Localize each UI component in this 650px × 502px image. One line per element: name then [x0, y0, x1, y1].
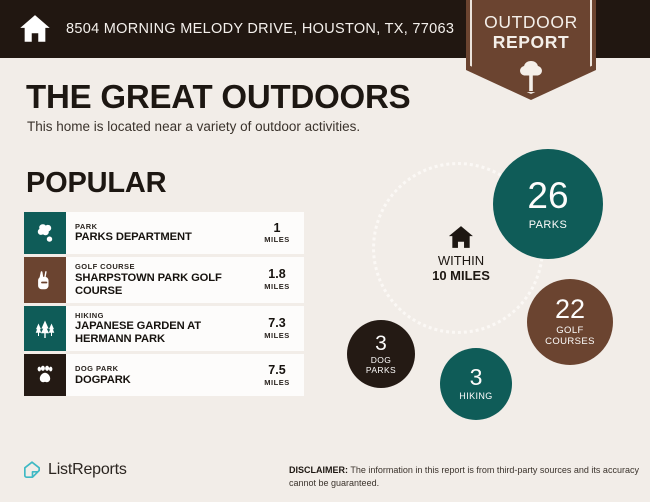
stat-circle-dog-parks[interactable]: 3 DOG PARKS	[347, 320, 415, 388]
list-item-distance: 1 MILES	[258, 212, 304, 254]
dog-label-line-2: PARKS	[366, 365, 396, 375]
tree-icon	[513, 58, 549, 94]
distance-unit: MILES	[264, 378, 289, 387]
parks-label: PARKS	[529, 219, 567, 231]
popular-list: PARK PARKS DEPARTMENT 1 MILES GOLF COURS…	[24, 212, 304, 399]
list-item-name: PARKS DEPARTMENT	[75, 231, 254, 244]
list-item-name: SHARPSTOWN PARK GOLF COURSE	[75, 272, 254, 298]
golf-bag-icon	[24, 257, 66, 303]
pine-trees-icon	[24, 306, 66, 352]
list-item[interactable]: DOG PARK DOGPARK 7.5 MILES	[24, 354, 304, 396]
park-trees-icon	[24, 212, 66, 254]
list-item-distance: 7.3 MILES	[258, 306, 304, 352]
house-icon	[18, 12, 52, 46]
golf-label-line-1: GOLF	[556, 325, 583, 336]
listreports-logo-text: ListReports	[48, 461, 127, 479]
list-item-category: HIKING	[75, 311, 254, 321]
listreports-logo[interactable]: ListReports	[22, 460, 127, 480]
popular-heading: POPULAR	[26, 167, 166, 200]
stat-circle-golf-courses[interactable]: 22 GOLF COURSES	[527, 279, 613, 365]
within-10-miles-diagram: 26 PARKS 22 GOLF COURSES 3 DOG PARKS 3 H…	[330, 140, 650, 430]
distance-unit: MILES	[264, 331, 289, 340]
list-item[interactable]: HIKING JAPANESE GARDEN AT HERMANN PARK 7…	[24, 306, 304, 352]
golf-courses-label: GOLF COURSES	[545, 326, 595, 347]
property-address: 8504 MORNING MELODY DRIVE, HOUSTON, TX, …	[66, 21, 454, 37]
stat-circle-hiking[interactable]: 3 HIKING	[440, 348, 512, 420]
page-subtitle: This home is located near a variety of o…	[27, 119, 360, 134]
list-item-name: JAPANESE GARDEN AT HERMANN PARK	[75, 320, 254, 346]
list-item[interactable]: GOLF COURSE SHARPSTOWN PARK GOLF COURSE …	[24, 257, 304, 303]
diagram-center-label: WITHIN 10 MILES	[418, 225, 504, 284]
disclaimer-label: DISCLAIMER:	[289, 465, 348, 475]
paw-print-icon	[24, 354, 66, 396]
dog-parks-count: 3	[375, 333, 387, 354]
list-item-distance: 7.5 MILES	[258, 354, 304, 396]
dog-parks-label: DOG PARKS	[366, 356, 396, 375]
listreports-house-logo-icon	[22, 460, 42, 480]
house-icon	[448, 225, 474, 249]
list-item-text: HIKING JAPANESE GARDEN AT HERMANN PARK	[66, 306, 258, 352]
distance-value: 1	[274, 222, 281, 236]
outdoor-report-infographic: 8504 MORNING MELODY DRIVE, HOUSTON, TX, …	[0, 0, 650, 502]
list-item-text: DOG PARK DOGPARK	[66, 354, 258, 396]
radius-text: 10 MILES	[418, 269, 504, 284]
list-item-text: GOLF COURSE SHARPSTOWN PARK GOLF COURSE	[66, 257, 258, 303]
distance-unit: MILES	[264, 282, 289, 291]
golf-label-line-2: COURSES	[545, 336, 595, 347]
list-item-category: PARK	[75, 222, 254, 232]
dog-label-line-1: DOG	[371, 355, 392, 365]
hiking-label: HIKING	[459, 391, 492, 401]
stat-circle-parks[interactable]: 26 PARKS	[493, 149, 603, 259]
list-item-category: DOG PARK	[75, 364, 254, 374]
list-item-text: PARK PARKS DEPARTMENT	[66, 212, 258, 254]
disclaimer: DISCLAIMER: The information in this repo…	[289, 464, 639, 490]
within-text: WITHIN	[418, 254, 504, 269]
golf-courses-count: 22	[555, 296, 585, 323]
distance-unit: MILES	[264, 235, 289, 244]
distance-value: 7.5	[268, 364, 285, 378]
list-item-category: GOLF COURSE	[75, 262, 254, 272]
list-item-distance: 1.8 MILES	[258, 257, 304, 303]
list-item[interactable]: PARK PARKS DEPARTMENT 1 MILES	[24, 212, 304, 254]
list-item-name: DOGPARK	[75, 374, 254, 387]
page-title: THE GREAT OUTDOORS	[26, 78, 410, 116]
distance-value: 1.8	[268, 268, 285, 282]
distance-value: 7.3	[268, 317, 285, 331]
parks-count: 26	[527, 177, 568, 214]
hiking-count: 3	[470, 366, 483, 389]
